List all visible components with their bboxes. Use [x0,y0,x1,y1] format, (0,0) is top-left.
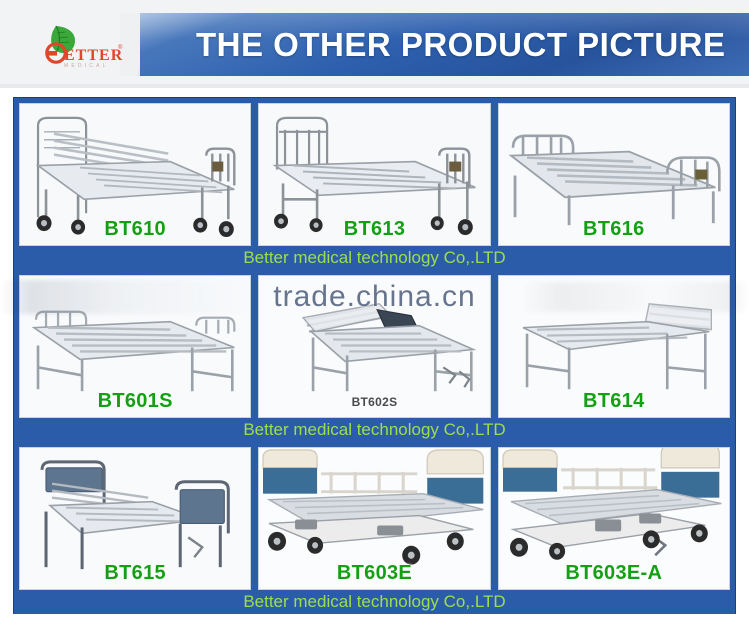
company-logo: ETTER ® MEDICAL [34,22,138,70]
product-cell[interactable]: BT614 [498,275,730,418]
svg-text:®: ® [118,44,123,51]
header-divider [0,84,749,88]
hospital-bed-electric-tilt-photo [499,448,729,589]
product-row: BT615 [14,442,735,590]
product-cell[interactable]: BT603E-A [498,447,730,590]
product-grid: BT610 [13,97,736,614]
hospital-bed-manual-headboard-photo [20,448,250,589]
product-cell[interactable]: BT603E [258,447,490,590]
page-title: THE OTHER PRODUCT PICTURE [196,23,736,67]
svg-text:MEDICAL: MEDICAL [64,63,109,69]
product-row: BT610 [14,98,735,246]
svg-text:ETTER: ETTER [64,47,123,64]
hospital-bed-electric-three-function-photo [259,448,489,589]
product-cell[interactable]: BT602S [258,275,490,418]
hospital-bed-flat-frame-photo [259,104,489,245]
hospital-bed-two-crank-photo [259,276,489,417]
hospital-bed-backrest-photo [499,276,729,417]
product-cell[interactable]: BT615 [19,447,251,590]
product-picture-page: ETTER ® MEDICAL THE OTHER PRODUCT PICTUR… [0,0,749,625]
company-strip: Better medical technology Co,.LTD [14,590,735,614]
product-row: BT601S [14,270,735,418]
company-strip: Better medical technology Co,.LTD [14,418,735,442]
hospital-bed-single-crank-photo [20,104,250,245]
company-strip: Better medical technology Co,.LTD [14,246,735,270]
product-cell[interactable]: BT616 [498,103,730,246]
page-header: ETTER ® MEDICAL THE OTHER PRODUCT PICTUR… [0,0,749,88]
hospital-bed-flat-slat-photo [20,276,250,417]
product-cell[interactable]: BT610 [19,103,251,246]
product-cell[interactable]: BT601S [19,275,251,418]
hospital-bed-flat-rail-photo [499,104,729,245]
product-cell[interactable]: BT613 [258,103,490,246]
